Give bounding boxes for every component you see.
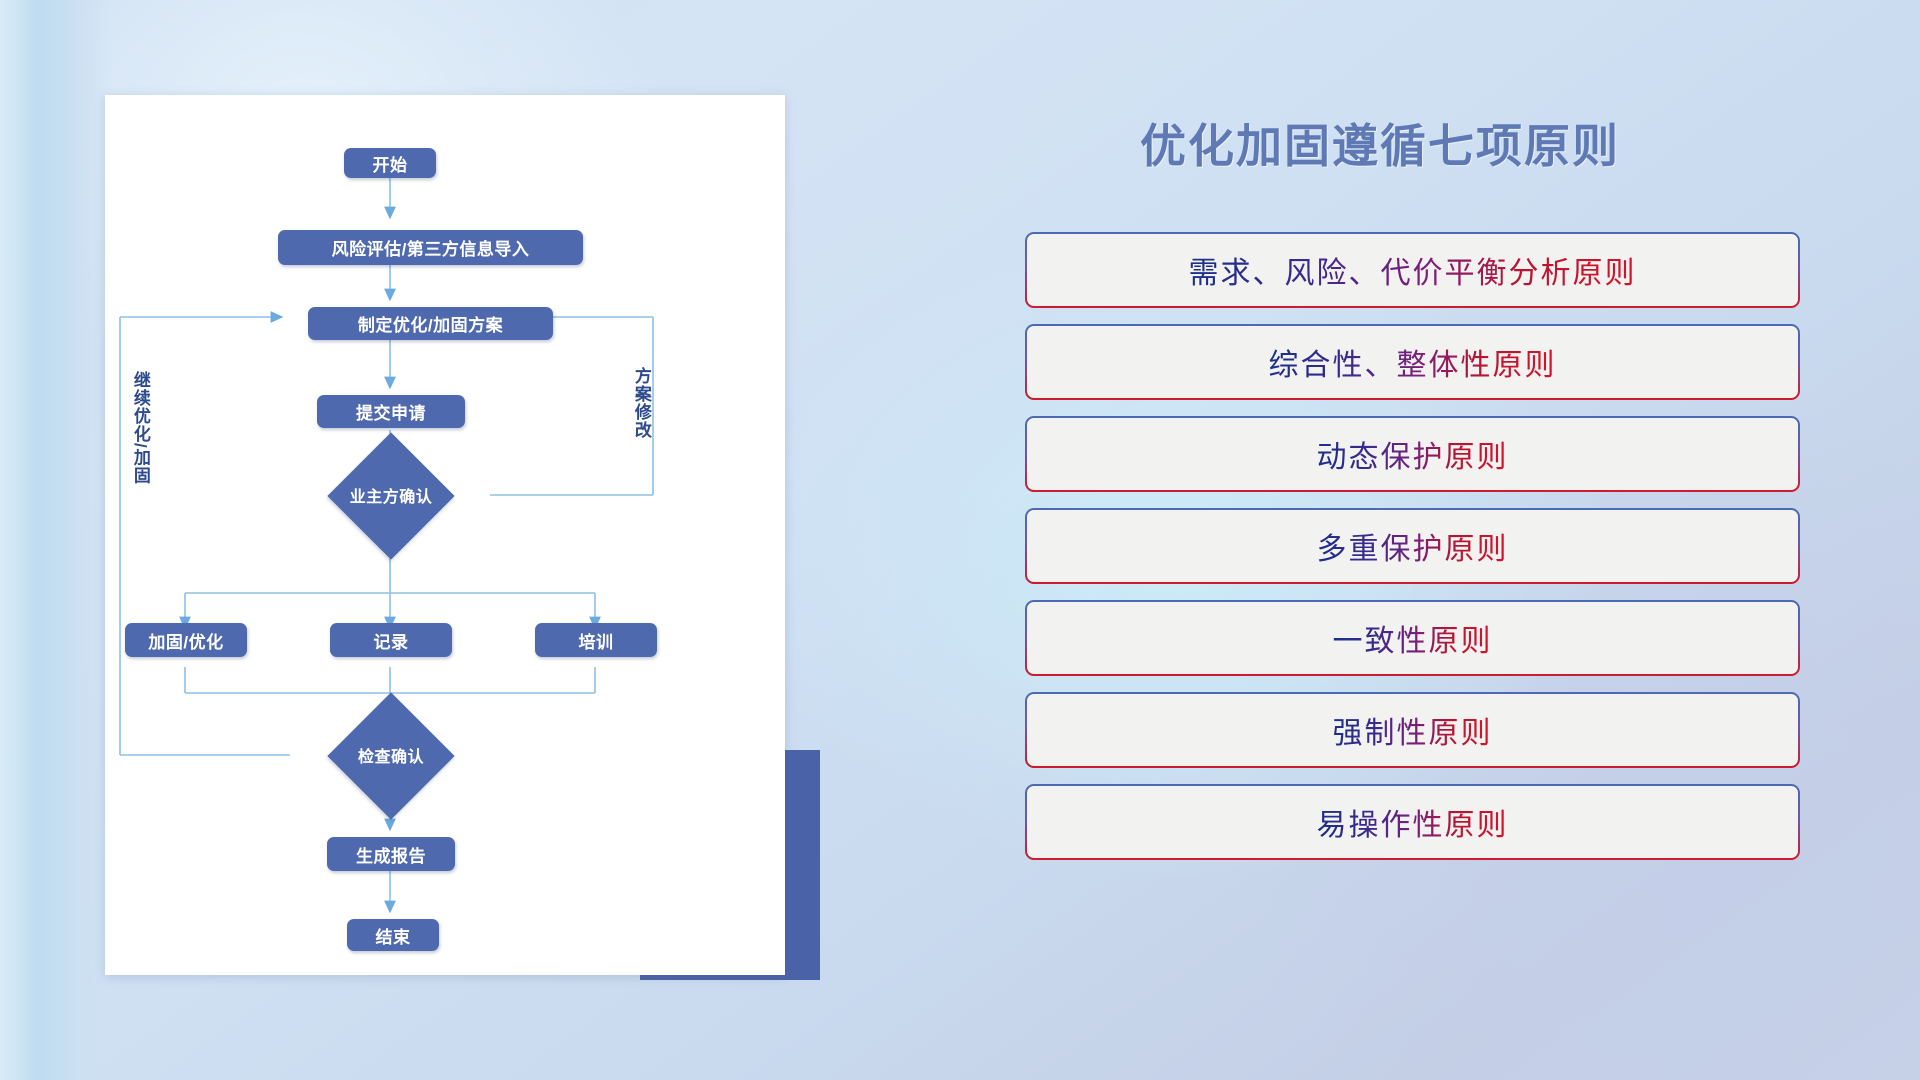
principle-item-7[interactable]: 易操作性原则 [1025, 784, 1800, 860]
principle-item-6-inner: 强制性原则 [1027, 694, 1798, 766]
principle-item-1-inner: 需求、风险、代价平衡分析原则 [1027, 234, 1798, 306]
flow-node-plan-label: 制定优化/加固方案 [358, 311, 503, 336]
principle-item-4-inner: 多重保护原则 [1027, 510, 1798, 582]
principle-item-2[interactable]: 综合性、整体性原则 [1025, 324, 1800, 400]
principle-item-5-inner: 一致性原则 [1027, 602, 1798, 674]
principle-item-3-inner: 动态保护原则 [1027, 418, 1798, 490]
flow-node-end-label: 结束 [376, 923, 411, 948]
principle-item-2-label: 综合性、整体性原则 [1269, 340, 1557, 384]
flow-decision-check-confirm-label: 检查确认 [301, 741, 481, 769]
flow-edge-label-plan-revision: 方案修改 [632, 367, 650, 497]
principle-item-6[interactable]: 强制性原则 [1025, 692, 1800, 768]
flow-node-start[interactable]: 开始 [344, 148, 436, 178]
panel-title: 优化加固遵循七项原则 [1030, 110, 1730, 176]
principle-item-6-label: 强制性原则 [1333, 708, 1493, 752]
principle-item-7-inner: 易操作性原则 [1027, 786, 1798, 858]
principle-item-3[interactable]: 动态保护原则 [1025, 416, 1800, 492]
flow-edge-label-continue-optimize: 继续优化/加固 [131, 371, 149, 551]
slide-root: 开始 风险评估/第三方信息导入 制定优化/加固方案 提交申请 业主方确认 加固/… [0, 0, 1920, 1080]
flow-node-submit-label: 提交申请 [356, 399, 426, 424]
flow-decision-owner-confirm-label: 业主方确认 [301, 481, 481, 509]
flow-node-training-label: 培训 [579, 628, 614, 653]
flow-node-reinforce-label: 加固/优化 [148, 628, 223, 653]
flow-node-end[interactable]: 结束 [347, 919, 439, 951]
principle-item-3-label: 动态保护原则 [1317, 432, 1509, 476]
principle-item-4-label: 多重保护原则 [1317, 524, 1509, 568]
flow-node-start-label: 开始 [373, 151, 408, 176]
flowchart-card: 开始 风险评估/第三方信息导入 制定优化/加固方案 提交申请 业主方确认 加固/… [105, 95, 785, 975]
flow-node-risk-assessment[interactable]: 风险评估/第三方信息导入 [278, 230, 583, 265]
principle-item-4[interactable]: 多重保护原则 [1025, 508, 1800, 584]
flow-node-report[interactable]: 生成报告 [327, 837, 455, 871]
principle-item-1-label: 需求、风险、代价平衡分析原则 [1189, 248, 1637, 292]
flow-node-submit[interactable]: 提交申请 [317, 395, 465, 428]
principle-item-7-label: 易操作性原则 [1317, 800, 1509, 844]
flow-node-record[interactable]: 记录 [330, 623, 452, 657]
flow-node-training[interactable]: 培训 [535, 623, 657, 657]
flow-node-report-label: 生成报告 [356, 842, 426, 867]
flow-node-risk-assessment-label: 风险评估/第三方信息导入 [332, 235, 530, 260]
principles-list: 需求、风险、代价平衡分析原则 综合性、整体性原则 动态保护原则 多重保护原则 一… [1025, 232, 1800, 876]
flow-node-reinforce[interactable]: 加固/优化 [125, 623, 247, 657]
principle-item-5[interactable]: 一致性原则 [1025, 600, 1800, 676]
principle-item-5-label: 一致性原则 [1333, 616, 1493, 660]
principle-item-1[interactable]: 需求、风险、代价平衡分析原则 [1025, 232, 1800, 308]
principle-item-2-inner: 综合性、整体性原则 [1027, 326, 1798, 398]
flow-node-record-label: 记录 [374, 628, 409, 653]
flow-node-plan[interactable]: 制定优化/加固方案 [308, 307, 553, 340]
